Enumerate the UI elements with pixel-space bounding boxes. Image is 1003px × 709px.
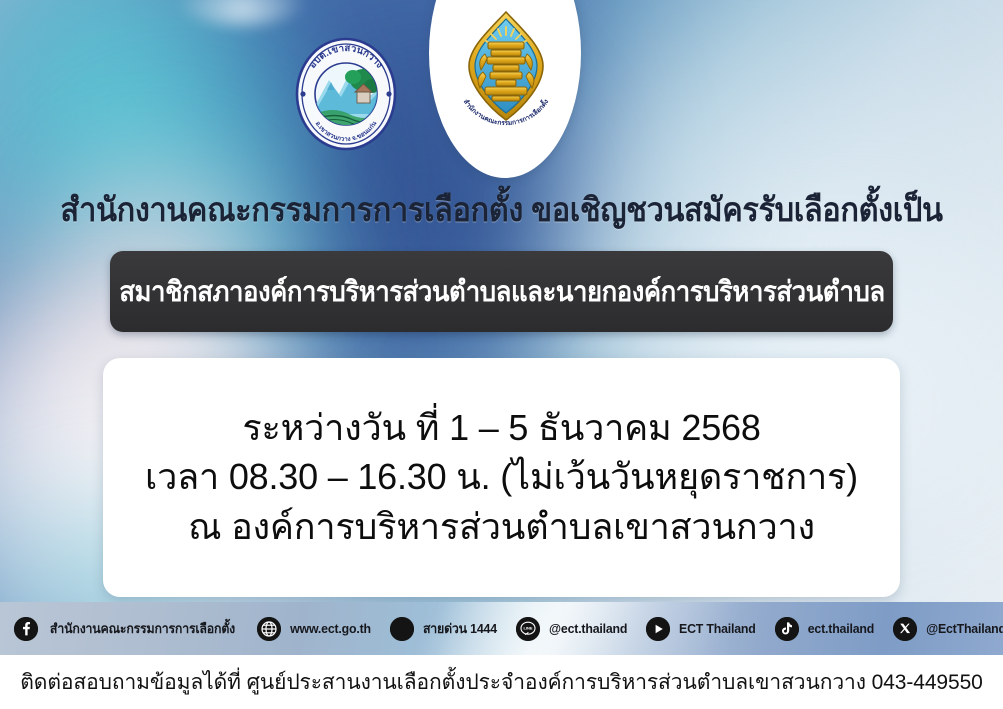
social-label-x-twitter: @EctThailand <box>926 621 1003 636</box>
svg-text:LINE: LINE <box>523 625 532 630</box>
contact-bar: ติดต่อสอบถามข้อมูลได้ที่ ศูนย์ประสานงานเ… <box>0 655 1003 709</box>
social-link-x-twitter[interactable]: @EctThailand <box>893 617 1003 641</box>
social-link-line[interactable]: LINE @ect.thailand <box>516 617 629 641</box>
globe-icon <box>257 617 281 641</box>
ect-thailand-emblem-icon: สำนักงานคณะกรรมการการเลือกตั้ง <box>447 8 565 126</box>
social-label-hotline: สายด่วน 1444 <box>423 618 497 639</box>
position-banner: สมาชิกสภาองค์การบริหารส่วนตำบลและนายกองค… <box>110 251 893 332</box>
social-label-line: @ect.thailand <box>549 621 627 636</box>
page-title: สำนักงานคณะกรรมการการเลือกตั้ง ขอเชิญชวน… <box>35 183 968 236</box>
contact-info-text: ติดต่อสอบถามข้อมูลได้ที่ ศูนย์ประสานงานเ… <box>20 666 983 699</box>
social-link-youtube[interactable]: ECT Thailand <box>646 617 758 641</box>
detail-line-dates: ระหว่างวัน ที่ 1 – 5 ธันวาคม 2568 <box>242 405 760 451</box>
social-label-website: www.ect.go.th <box>290 621 371 636</box>
position-banner-text: สมาชิกสภาองค์การบริหารส่วนตำบลและนายกองค… <box>119 270 884 314</box>
details-panel: ระหว่างวัน ที่ 1 – 5 ธันวาคม 2568 เวลา 0… <box>103 358 900 597</box>
youtube-icon <box>646 617 670 641</box>
phone-icon <box>390 617 414 641</box>
detail-line-hours: เวลา 08.30 – 16.30 น. (ไม่เว้นวันหยุดราช… <box>145 454 858 500</box>
facebook-icon <box>14 617 38 641</box>
tiktok-icon <box>775 617 799 641</box>
social-link-tiktok[interactable]: ect.thailand <box>775 617 876 641</box>
x-twitter-icon <box>893 617 917 641</box>
social-link-hotline[interactable]: สายด่วน 1444 <box>390 617 499 641</box>
khao-suan-kwang-sao-seal-icon: อบต.เขาสวนกวาง อ.เขาสวนกวาง จ.ขอนแก่น <box>287 34 405 152</box>
social-link-facebook[interactable]: สำนักงานคณะกรรมการการเลือกตั้ง <box>14 617 240 641</box>
social-label-facebook: สำนักงานคณะกรรมการการเลือกตั้ง <box>50 618 235 639</box>
social-label-tiktok: ect.thailand <box>807 621 873 636</box>
social-link-website[interactable]: www.ect.go.th <box>257 617 373 641</box>
line-icon: LINE <box>516 617 540 641</box>
social-label-youtube: ECT Thailand <box>679 621 756 636</box>
poster-root: อบต.เขาสวนกวาง อ.เขาสวนกวาง จ.ขอนแก่น <box>0 0 1003 709</box>
detail-line-location: ณ องค์การบริหารส่วนตำบลเขาสวนกวาง <box>188 504 815 550</box>
social-media-bar: สำนักงานคณะกรรมการการเลือกตั้ง www.ect.g… <box>0 602 1003 655</box>
